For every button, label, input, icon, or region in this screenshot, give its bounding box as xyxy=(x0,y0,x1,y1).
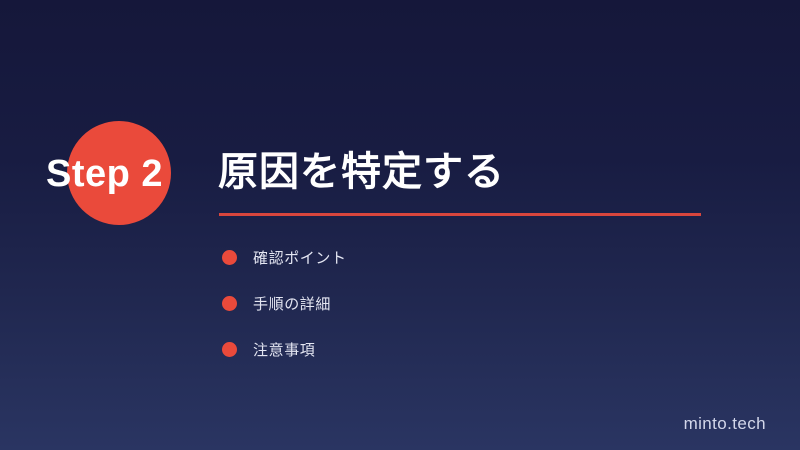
presentation-slide: Step 2 原因を特定する 確認ポイント 手順の詳細 注意事項 minto.t… xyxy=(0,0,800,450)
list-item-label: 確認ポイント xyxy=(253,247,347,268)
footer-brand: minto.tech xyxy=(684,414,766,434)
list-item: 確認ポイント xyxy=(220,234,680,280)
slide-title: 原因を特定する xyxy=(218,146,505,198)
list-item-label: 手順の詳細 xyxy=(253,293,331,314)
title-divider-rule xyxy=(219,213,701,216)
bullet-dot-icon xyxy=(222,342,237,357)
bullet-dot-icon xyxy=(222,296,237,311)
bullet-list: 確認ポイント 手順の詳細 注意事項 xyxy=(220,234,680,372)
bullet-dot-icon xyxy=(222,250,237,265)
list-item-label: 注意事項 xyxy=(253,339,315,360)
list-item: 手順の詳細 xyxy=(220,280,680,326)
list-item: 注意事項 xyxy=(220,326,680,372)
step-badge-label: Step 2 xyxy=(46,152,246,196)
